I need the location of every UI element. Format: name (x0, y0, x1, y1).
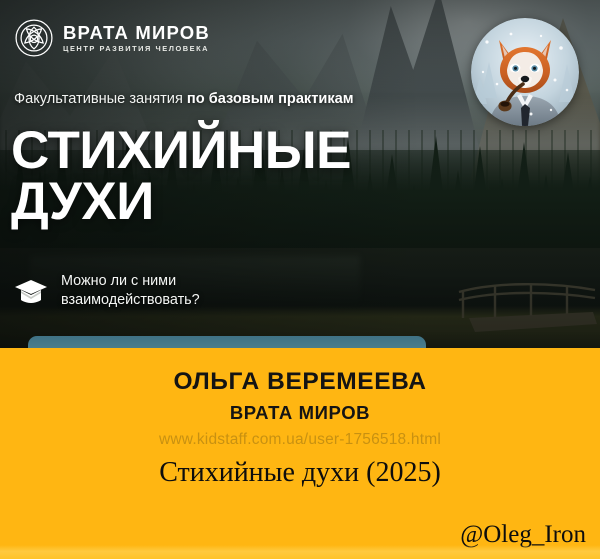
graduation-cap-icon (14, 277, 48, 305)
site-watermark: www.kidstaff.com.ua/user-1756518.html (0, 432, 600, 448)
question-line-1: Можно ли с ними (61, 272, 200, 291)
question-text: Можно ли с ними взаимодействовать? (61, 272, 200, 311)
fox-in-suit-avatar[interactable] (471, 18, 579, 126)
brand-name: ВРАТА МИРОВ (63, 24, 210, 43)
info-panel: ОЛЬГА ВЕРЕМЕЕВА ВРАТА МИРОВ www.kidstaff… (0, 348, 600, 559)
brand-tagline: ЦЕНТР РАЗВИТИЯ ЧЕЛОВЕКА (63, 45, 210, 52)
banner-question: Можно ли с ними взаимодействовать? (14, 272, 200, 311)
headline-line-2: ДУХИ (11, 177, 351, 228)
brand-logo-text: ВРАТА МИРОВ ЦЕНТР РАЗВИТИЯ ЧЕЛОВЕКА (63, 24, 210, 52)
banner-kicker: Факультативные занятия по базовым практи… (14, 92, 354, 107)
triquetra-knot-icon (14, 18, 54, 58)
question-line-2: взаимодействовать? (61, 291, 200, 310)
kicker-regular: Факультативные занятия (14, 91, 187, 107)
course-title: Стихийные духи (2025) (0, 459, 600, 487)
uploader-handle: @Oleg_Iron (460, 522, 586, 547)
presenter-name: ОЛЬГА ВЕРЕМЕЕВА (0, 370, 600, 395)
page-title: СТИХИЙНЫЕ ДУХИ (11, 126, 351, 228)
promo-banner-screenshot: ВРАТА МИРОВ ЦЕНТР РАЗВИТИЯ ЧЕЛОВЕКА (0, 0, 600, 559)
brand-logo[interactable]: ВРАТА МИРОВ ЦЕНТР РАЗВИТИЯ ЧЕЛОВЕКА (14, 18, 210, 58)
fox-avatar-illustration (471, 18, 579, 126)
panel-bottom-glow (0, 545, 600, 559)
organization-name: ВРАТА МИРОВ (0, 404, 600, 423)
kicker-bold: по базовым практикам (187, 91, 354, 107)
